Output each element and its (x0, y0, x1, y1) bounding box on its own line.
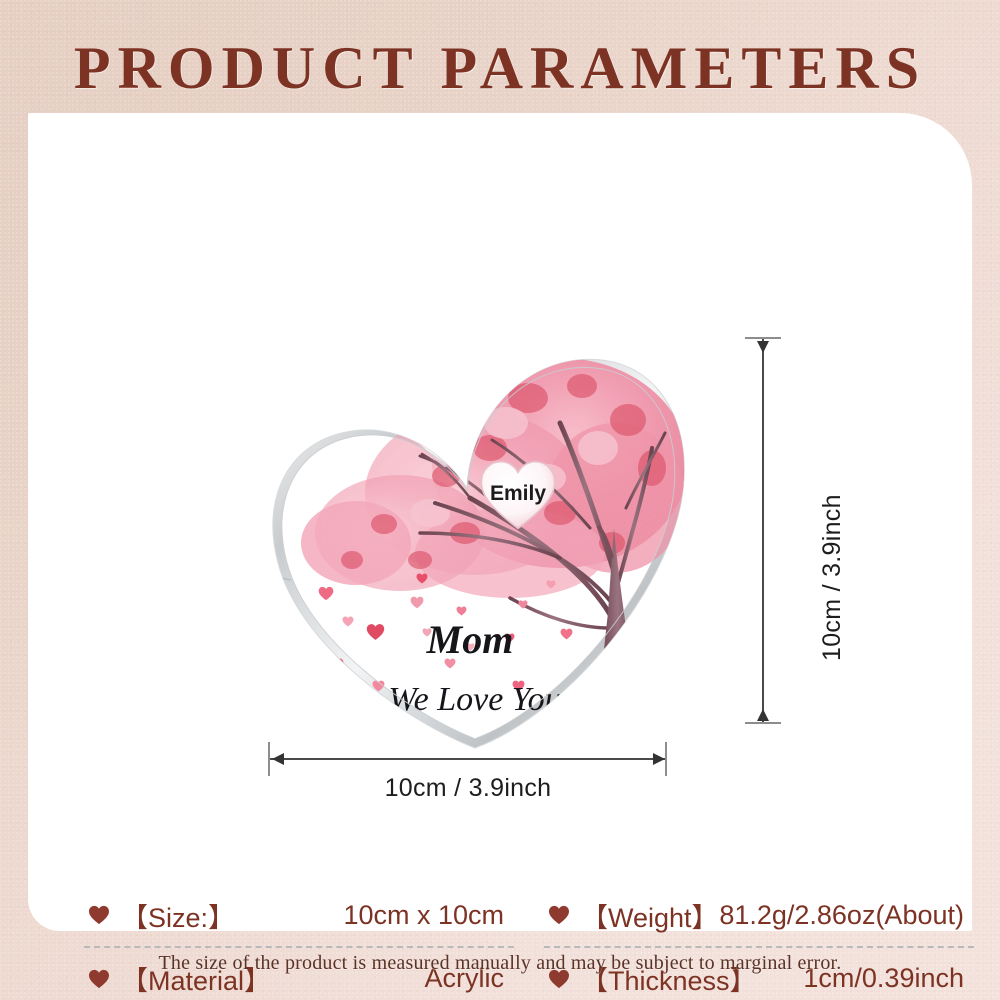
arrow-left-icon (271, 752, 285, 766)
plaque-face: Annie Emily Mom We Love You (280, 358, 688, 748)
spec-key-weight: 【Weight】 (548, 896, 719, 935)
spec-label: 【Weight】 (581, 896, 719, 935)
engraved-line-2: We Love You (388, 681, 561, 718)
dimension-horizontal-label: 10cm / 3.9inch (28, 774, 908, 803)
dimension-vertical-cap-top (745, 337, 781, 339)
spec-row-size: 【Size:】 10cm x 10cm (84, 885, 514, 948)
dimension-vertical-cap-bottom (745, 722, 781, 724)
heart-bullet-icon (88, 905, 110, 925)
spec-label: 【Size:】 (121, 896, 235, 935)
dimension-horizontal-cap-left (268, 742, 270, 776)
product-image: Annie Emily Mom We Love You (260, 328, 690, 753)
name-heart-label: Annie (416, 422, 474, 445)
arrow-right-icon (652, 752, 666, 766)
dimension-vertical-label: 10cm / 3.9inch (818, 494, 847, 661)
page-background: PRODUCT PARAMETERS (0, 0, 1000, 1000)
spec-table: 【Size:】 10cm x 10cm 【Weight】 81.2g/2.86o… (84, 885, 974, 1000)
arrow-down-icon (756, 340, 770, 354)
spec-row-weight: 【Weight】 81.2g/2.86oz(About) (544, 885, 974, 948)
spec-value: 10cm x 10cm (343, 900, 510, 931)
spec-key-size: 【Size:】 (88, 896, 235, 935)
arrow-up-icon (756, 708, 770, 722)
heart-plaque-graphic: Annie Emily Mom We Love You (260, 328, 690, 753)
disclaimer-note: The size of the product is measured manu… (0, 952, 1000, 975)
heart-bullet-icon (548, 905, 570, 925)
spec-value: 81.2g/2.86oz(About) (719, 900, 970, 931)
dimension-horizontal-line (269, 758, 667, 760)
page-title: PRODUCT PARAMETERS (0, 34, 1000, 103)
dimension-vertical-line (762, 338, 764, 724)
name-heart-label: Emily (490, 482, 546, 505)
engraved-line-1: Mom (426, 617, 514, 662)
content-card: Annie Emily Mom We Love You (28, 113, 972, 931)
